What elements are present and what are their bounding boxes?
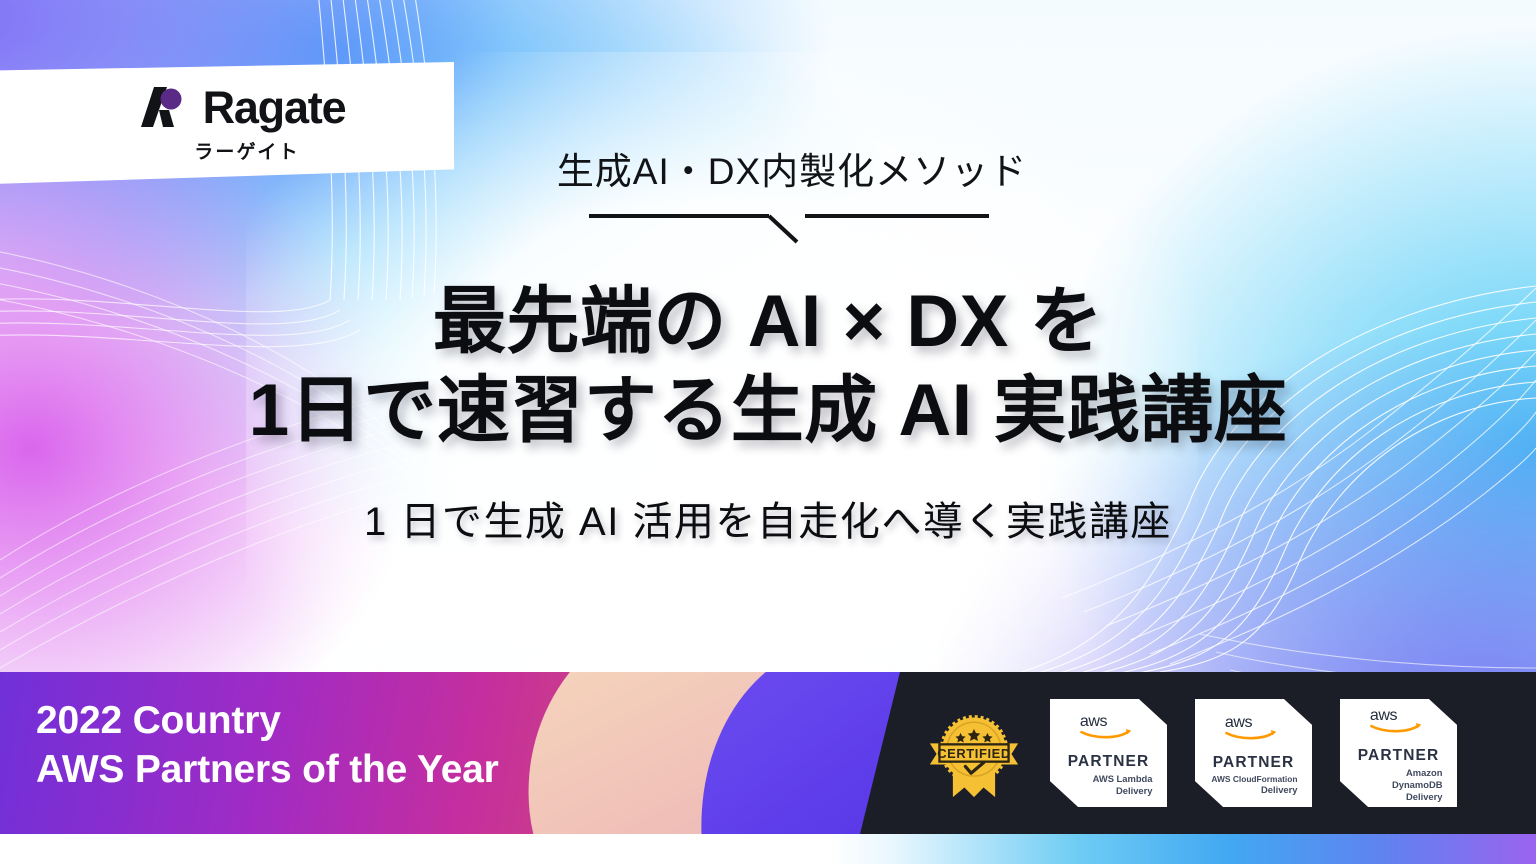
promo-slide: Ragate ラーゲイト 生成AI・DX内製化メソッド 最先端の AI × DX… bbox=[0, 0, 1536, 864]
aws-partner-program: Amazon DynamoDB Delivery bbox=[1355, 767, 1443, 802]
award-title-line-2: AWS Partners of the Year bbox=[36, 745, 499, 794]
award-title-line-1: 2022 Country bbox=[36, 696, 499, 745]
aws-partner-badge: aws PARTNER AWS Lambda Delivery bbox=[1050, 699, 1167, 807]
aws-partner-tier: PARTNER bbox=[1068, 753, 1149, 771]
svg-text:CERTIFIED: CERTIFIED bbox=[937, 746, 1011, 761]
aws-program-line-1: AWS Lambda bbox=[1065, 773, 1153, 785]
aws-partner-program: AWS Lambda Delivery bbox=[1065, 773, 1153, 797]
certifications-panel: CERTIFIED aws PARTNER AWS Lambda bbox=[860, 672, 1536, 834]
aws-partner-tier: PARTNER bbox=[1358, 747, 1439, 765]
aws-program-line-2: Delivery bbox=[1355, 791, 1443, 803]
aws-partner-badge: aws PARTNER Amazon DynamoDB Delivery bbox=[1340, 699, 1457, 807]
bottom-accent-strip bbox=[0, 834, 1536, 864]
aws-logo-icon: aws bbox=[1368, 707, 1430, 738]
certified-seal-icon: CERTIFIED bbox=[926, 705, 1022, 801]
svg-text:aws: aws bbox=[1369, 707, 1397, 724]
angled-rule-divider-icon bbox=[547, 210, 989, 251]
hero-title: 最先端の AI × DX を 1日で速習する生成 AI 実践講座 bbox=[249, 277, 1288, 455]
aws-logo-icon: aws bbox=[1223, 714, 1285, 745]
aws-program-line-1: AWS CloudFormation bbox=[1210, 774, 1298, 785]
hero-title-line-1: 最先端の AI × DX を bbox=[249, 277, 1288, 366]
brand-wordmark: Ragate bbox=[203, 85, 346, 130]
svg-text:aws: aws bbox=[1079, 713, 1107, 730]
hero-eyebrow: 生成AI・DX内製化メソッド bbox=[509, 150, 1027, 194]
hero-content: 生成AI・DX内製化メソッド 最先端の AI × DX を 1日で速習する生成 … bbox=[0, 150, 1536, 547]
awards-bar: 2022 Country AWS Partners of the Year bbox=[0, 672, 1536, 834]
brand-logo-row: Ragate bbox=[141, 84, 346, 130]
aws-logo-icon: aws bbox=[1078, 713, 1140, 744]
aws-partner-program: AWS CloudFormation Delivery bbox=[1210, 774, 1298, 796]
aws-program-line-2: Delivery bbox=[1210, 784, 1298, 796]
aws-program-line-1: Amazon DynamoDB bbox=[1355, 767, 1443, 791]
aws-partner-badge: aws PARTNER AWS CloudFormation Delivery bbox=[1195, 699, 1312, 807]
aws-program-line-2: Delivery bbox=[1065, 785, 1153, 797]
aws-partner-tier: PARTNER bbox=[1213, 754, 1294, 772]
award-title: 2022 Country AWS Partners of the Year bbox=[36, 696, 499, 794]
hero-subtitle: 1 日で生成 AI 活用を自走化へ導く実践講座 bbox=[364, 489, 1172, 547]
hero-title-line-2: 1日で速習する生成 AI 実践講座 bbox=[249, 366, 1288, 455]
svg-text:aws: aws bbox=[1224, 714, 1252, 731]
award-panel: 2022 Country AWS Partners of the Year bbox=[0, 672, 906, 834]
ragate-r-mark-icon bbox=[141, 84, 187, 130]
